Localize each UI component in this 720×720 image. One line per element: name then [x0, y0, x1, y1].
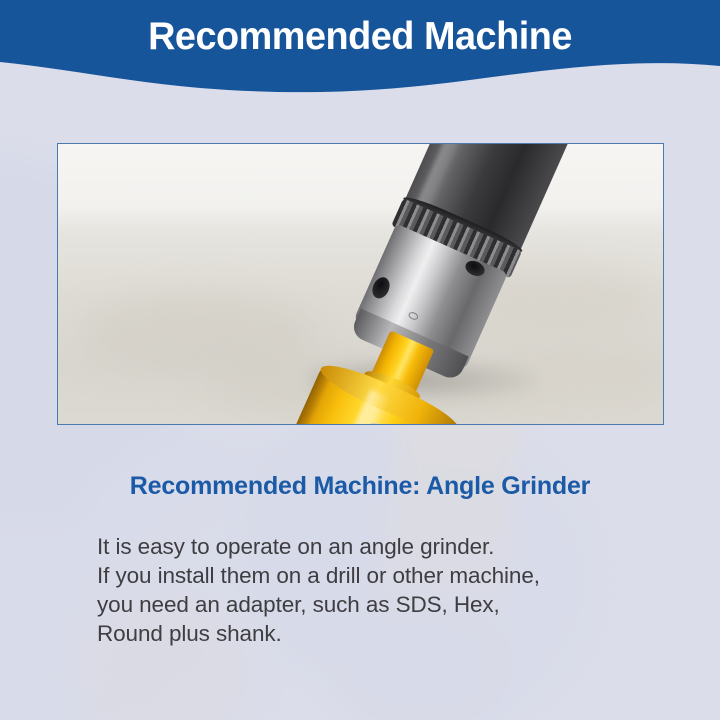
description-text: It is easy to operate on an angle grinde… [97, 532, 637, 648]
description-line: It is easy to operate on an angle grinde… [97, 532, 637, 561]
description-line: you need an adapter, such as SDS, Hex, [97, 590, 637, 619]
header-banner: Recommended Machine [0, 0, 720, 120]
description-line: Round plus shank. [97, 619, 637, 648]
section-subheading: Recommended Machine: Angle Grinder [0, 472, 720, 501]
product-info-card: Recommended Machine [0, 0, 720, 720]
product-photo-frame [57, 143, 664, 425]
page-title: Recommended Machine [11, 15, 709, 59]
product-photo [58, 144, 663, 424]
description-line: If you install them on a drill or other … [97, 561, 637, 590]
